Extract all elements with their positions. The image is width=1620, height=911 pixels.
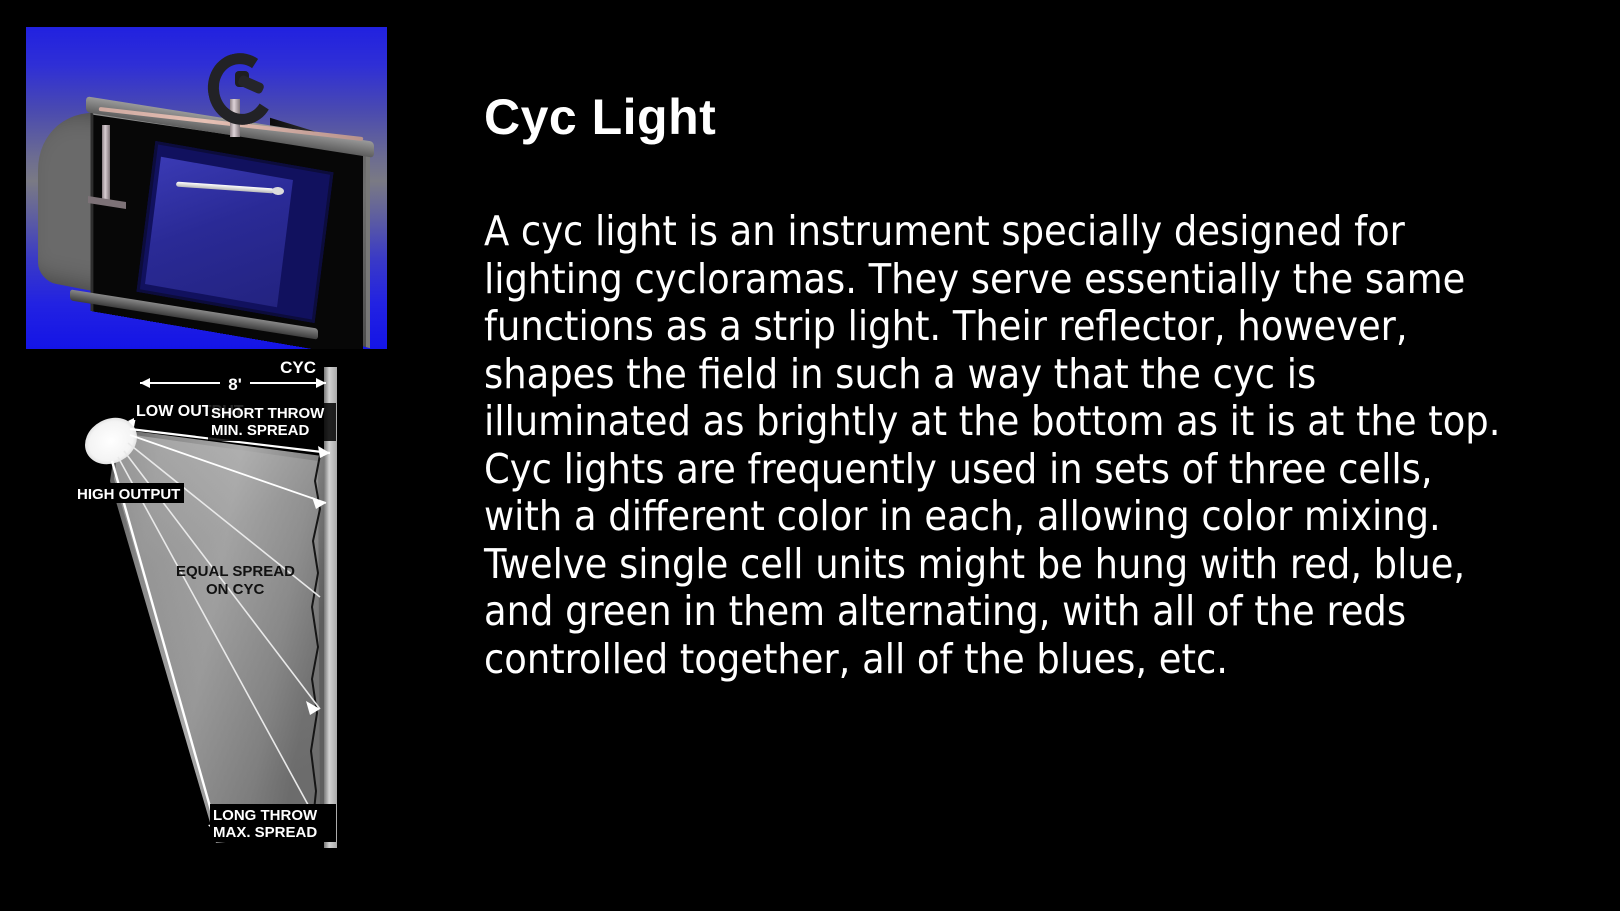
slide-canvas: 8' CYC [0, 0, 1620, 911]
cyc-label: CYC [280, 361, 316, 377]
high-output-label: HIGH OUTPUT [77, 486, 180, 503]
equal-spread-label-line2: ON CYC [206, 581, 265, 598]
equal-spread-label-line1: EQUAL SPREAD [176, 563, 295, 580]
beam-spread-svg: 8' CYC [68, 361, 340, 848]
body-paragraph-1: A cyc light is an instrument specially d… [484, 208, 1514, 446]
short-throw-label-line1: SHORT THROW [211, 405, 325, 422]
dimension-label: 8' [228, 375, 242, 394]
page-title: Cyc Light [484, 92, 716, 142]
body-paragraph-2: Cyc lights are frequently used in sets o… [484, 446, 1514, 684]
long-throw-label-line2: MAX. SPREAD [213, 824, 317, 841]
short-throw-label-line2: MIN. SPREAD [211, 422, 310, 439]
yoke-post-left [102, 125, 110, 201]
body-copy: A cyc light is an instrument specially d… [484, 208, 1514, 683]
long-throw-label-line1: LONG THROW [213, 807, 318, 824]
left-figure-column: 8' CYC [0, 0, 450, 911]
cyc-light-fixture-render [26, 27, 387, 349]
cyc-light-beam-spread-diagram: 8' CYC [68, 361, 340, 848]
blue-lens [145, 157, 293, 307]
content-column: Cyc Light A cyc light is an instrument s… [484, 0, 1584, 911]
